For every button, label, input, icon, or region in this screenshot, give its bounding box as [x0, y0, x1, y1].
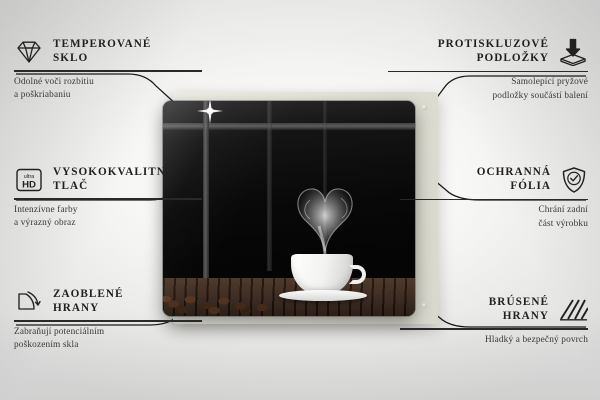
feature-subtitle-line2: a poškriabaniu — [14, 89, 202, 102]
feature-subtitle-line1: Samolepící pryžové — [388, 76, 588, 89]
svg-text:HD: HD — [22, 179, 36, 190]
feature-title-line2: SKLO — [53, 52, 151, 66]
divider — [400, 199, 588, 200]
feature-title-line1: VYSOKOKVALITNÝ — [53, 166, 175, 180]
feature-title-line2: PODLOŽKY — [477, 52, 549, 66]
feature-subtitle-line2: a výrazný obraz — [14, 217, 202, 230]
feature-subtitle: Hladký a bezpečný povrch — [400, 334, 588, 347]
feature-title-line2: FÓLIA — [510, 180, 551, 194]
feature-tempered-glass: TEMPEROVANÉ SKLO Odolné voči rozbitiu a … — [14, 38, 202, 102]
diamond-icon — [14, 39, 44, 65]
window-mullion-horizontal — [163, 123, 415, 130]
feature-title-line1: PROTISKLUZOVÉ — [438, 38, 549, 52]
heart-shaped-steam — [283, 180, 367, 258]
feature-rounded-edges: ZAOBLENÉ HRANY Zabraňují potenciálním po… — [14, 288, 202, 352]
window-mullion-vertical — [267, 101, 272, 271]
product-image — [163, 92, 438, 324]
feature-subtitle: Samolepící pryžové podložky součástí bal… — [388, 76, 588, 102]
feature-subtitle-line2: část výrobku — [400, 218, 588, 231]
ultra-hd-badge-icon: ultra HD — [14, 167, 44, 193]
shield-check-icon — [560, 166, 588, 194]
divider — [14, 70, 202, 71]
divider — [400, 328, 588, 329]
divider — [14, 198, 202, 199]
feature-subtitle-line1: Chrání zadní — [400, 204, 588, 217]
feature-subtitle: Odolné voči rozbitiu a poškriabaniu — [14, 76, 202, 102]
saucer — [279, 290, 367, 301]
feature-title-line2: HRANY — [53, 302, 124, 316]
feature-anti-slip-pads: PROTISKLUZOVÉ PODLOŽKY Samolepící pryžov… — [388, 38, 588, 103]
divider — [388, 71, 588, 72]
hatched-edge-icon — [558, 298, 588, 322]
feature-subtitle: Chrání zadní část výrobku — [400, 204, 588, 230]
rubber-pad — [422, 105, 427, 110]
feature-ground-edges: BRÚSENÉ HRANY Hladký a bezpečný povrch — [400, 296, 588, 347]
feature-subtitle: Intenzívne farby a výrazný obraz — [14, 204, 202, 230]
feature-subtitle-line1: Intenzívne farby — [14, 204, 202, 217]
feature-subtitle: Zabraňují potenciálním poškozením skla — [14, 326, 202, 352]
feature-title-line1: ZAOBLENÉ — [53, 288, 124, 302]
feature-protective-foil: OCHRANNÁ FÓLIA Chrání zadní část výrobku — [400, 166, 588, 231]
feature-title-line1: TEMPEROVANÉ — [53, 38, 151, 52]
window-mullion-vertical — [203, 101, 209, 283]
feature-hd-print: ultra HD VYSOKOKVALITNÝ TLAČ Intenzívne … — [14, 166, 202, 230]
press-pad-icon — [558, 38, 588, 66]
feature-title-line1: OCHRANNÁ — [477, 166, 551, 180]
feature-title-line1: BRÚSENÉ — [489, 296, 549, 310]
divider — [14, 320, 202, 321]
feature-subtitle-line1: Zabraňují potenciálním — [14, 326, 202, 339]
feature-subtitle-line1: Odolné voči rozbitiu — [14, 76, 202, 89]
feature-subtitle-line2: poškozením skla — [14, 339, 202, 352]
feature-subtitle-line2: podložky součástí balení — [388, 90, 588, 103]
feature-title-line2: TLAČ — [53, 180, 175, 194]
rounded-corner-icon — [14, 289, 44, 315]
feature-title-line2: HRANY — [503, 310, 549, 324]
feature-subtitle-line1: Hladký a bezpečný povrch — [400, 334, 588, 347]
